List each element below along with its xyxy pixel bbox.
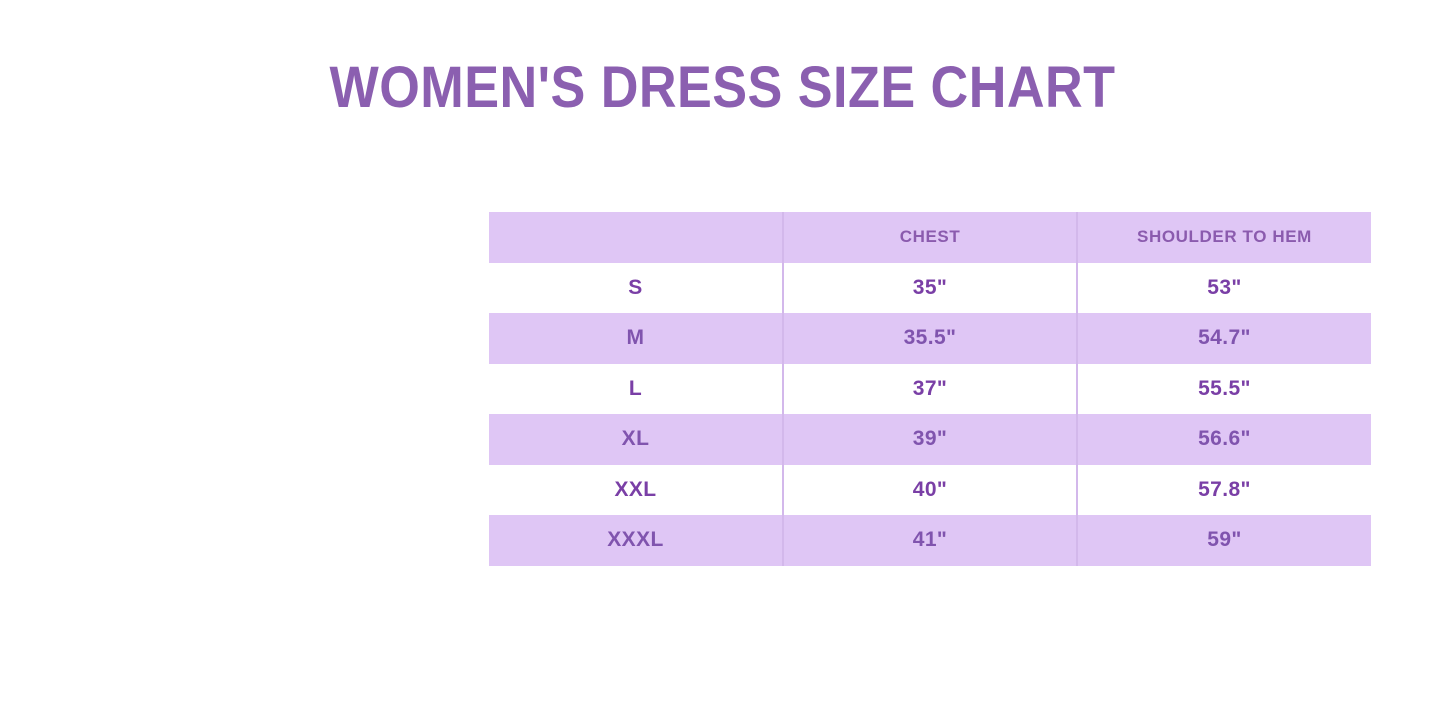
table-header: CHEST SHOULDER TO HEM	[489, 212, 1371, 263]
cell-size: XXL	[489, 465, 783, 516]
size-chart-page: WOMEN'S DRESS SIZE CHART CHEST SHOULDER …	[0, 0, 1445, 723]
table-row: XL 39" 56.6"	[489, 414, 1371, 465]
table-body: S 35" 53" M 35.5" 54.7" L 37" 55.5" XL 3…	[489, 263, 1371, 566]
cell-chest: 35.5"	[783, 313, 1077, 364]
table-row: L 37" 55.5"	[489, 364, 1371, 415]
cell-size: XXXL	[489, 515, 783, 566]
cell-chest: 39"	[783, 414, 1077, 465]
cell-size: L	[489, 364, 783, 415]
size-chart-table: CHEST SHOULDER TO HEM S 35" 53" M 35.5" …	[489, 212, 1371, 566]
cell-shoulder-to-hem: 56.6"	[1077, 414, 1371, 465]
cell-shoulder-to-hem: 54.7"	[1077, 313, 1371, 364]
column-header-chest: CHEST	[783, 212, 1077, 263]
table-row: S 35" 53"	[489, 263, 1371, 314]
cell-size: XL	[489, 414, 783, 465]
cell-chest: 37"	[783, 364, 1077, 415]
cell-chest: 41"	[783, 515, 1077, 566]
cell-shoulder-to-hem: 57.8"	[1077, 465, 1371, 516]
column-header-shoulder-to-hem: SHOULDER TO HEM	[1077, 212, 1371, 263]
cell-shoulder-to-hem: 59"	[1077, 515, 1371, 566]
table-row: XXXL 41" 59"	[489, 515, 1371, 566]
table-row: M 35.5" 54.7"	[489, 313, 1371, 364]
cell-size: S	[489, 263, 783, 314]
cell-shoulder-to-hem: 53"	[1077, 263, 1371, 314]
table-header-row: CHEST SHOULDER TO HEM	[489, 212, 1371, 263]
table-row: XXL 40" 57.8"	[489, 465, 1371, 516]
cell-chest: 40"	[783, 465, 1077, 516]
column-header-size	[489, 212, 783, 263]
cell-shoulder-to-hem: 55.5"	[1077, 364, 1371, 415]
cell-size: M	[489, 313, 783, 364]
page-title: WOMEN'S DRESS SIZE CHART	[72, 54, 1373, 122]
cell-chest: 35"	[783, 263, 1077, 314]
